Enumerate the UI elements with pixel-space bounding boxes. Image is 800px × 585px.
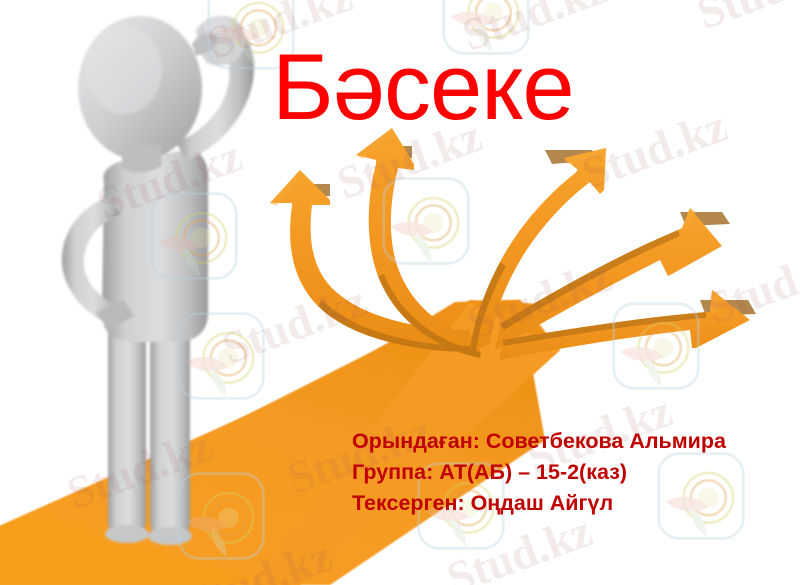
credit-line-author: Орындаған: Советбекова Альмира xyxy=(352,426,800,457)
credit-line-group: Группа: АТ(АБ) – 15-2(каз) xyxy=(352,457,800,488)
presentation-slide: Stud.kzStud.kzStud.kzStud.kzStud.kzStud.… xyxy=(0,0,800,585)
credits-block: Орындаған: Советбекова Альмира Группа: А… xyxy=(352,426,800,519)
page-title: Бәсеке xyxy=(272,40,574,134)
credit-line-reviewer: Тексерген: Оңдаш Айгүл xyxy=(352,488,800,519)
